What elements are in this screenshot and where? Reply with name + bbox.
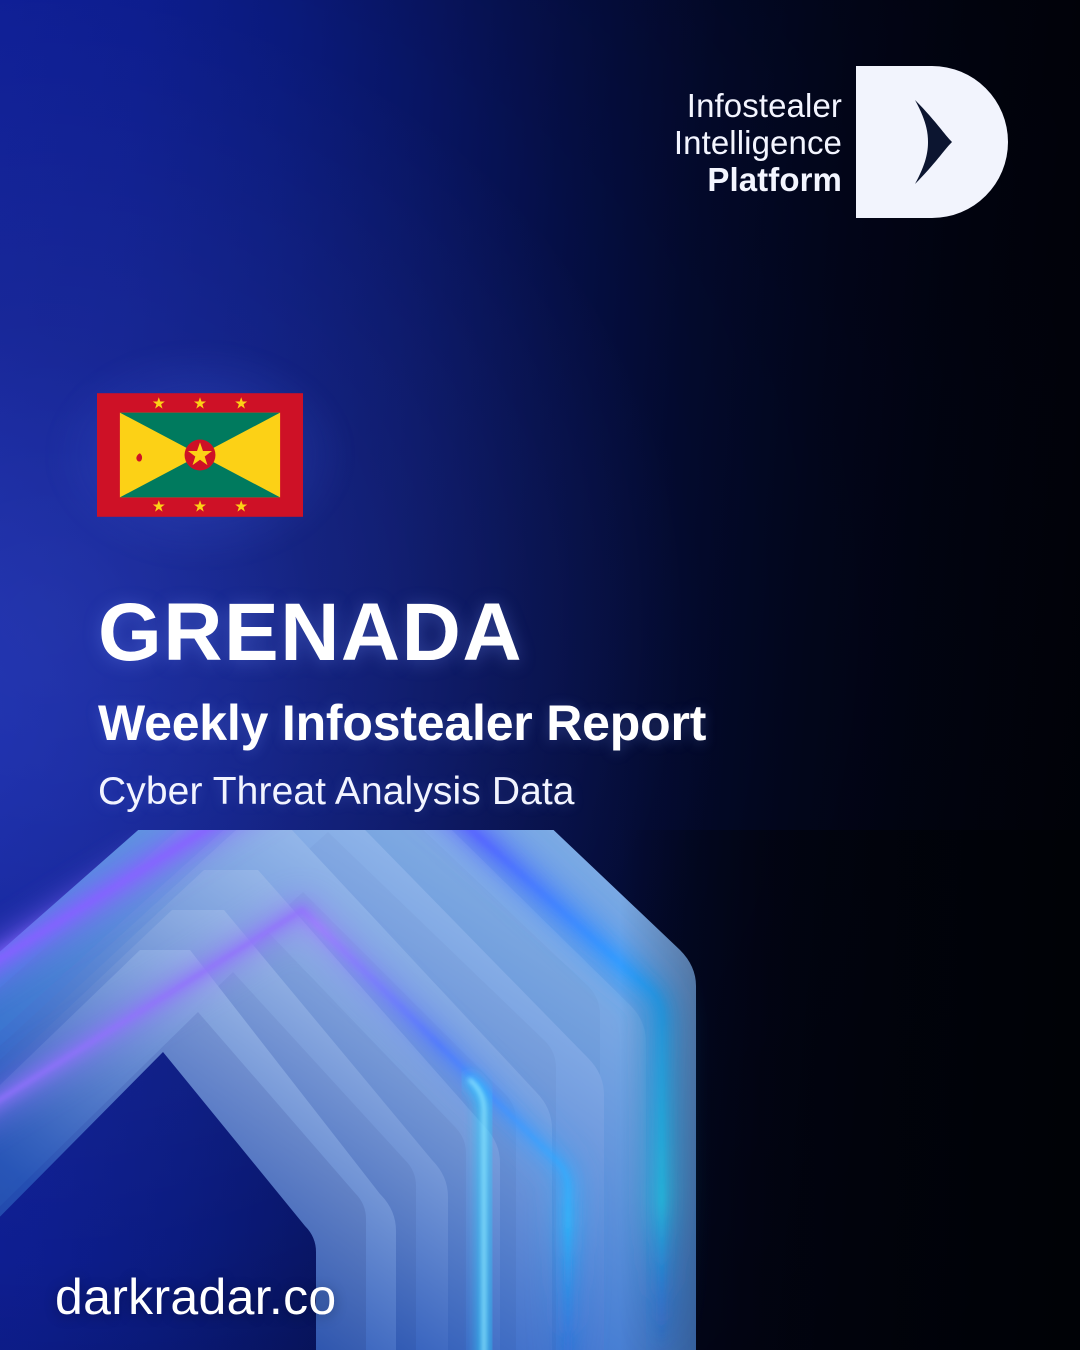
brand-logo-line1: Infostealer	[687, 89, 842, 122]
country-flag	[97, 392, 303, 518]
report-description: Cyber Threat Analysis Data	[98, 772, 706, 811]
brand-logo-line3: Platform	[707, 163, 842, 196]
headline-block: GRENADA Weekly Infostealer Report Cyber …	[98, 592, 706, 811]
brand-logo[interactable]: Infostealer Intelligence Platform	[674, 66, 1008, 218]
flag-of-grenada-icon	[97, 392, 303, 518]
site-url[interactable]: darkradar.co	[55, 1268, 337, 1326]
darkradar-d-mark-icon	[856, 66, 1008, 218]
report-subtitle: Weekly Infostealer Report	[98, 698, 706, 748]
brand-logo-text: Infostealer Intelligence Platform	[674, 89, 856, 196]
poster-canvas: Infostealer Intelligence Platform	[0, 0, 1080, 1350]
brand-logo-line2: Intelligence	[674, 126, 842, 159]
page-title: GRENADA	[98, 592, 706, 674]
